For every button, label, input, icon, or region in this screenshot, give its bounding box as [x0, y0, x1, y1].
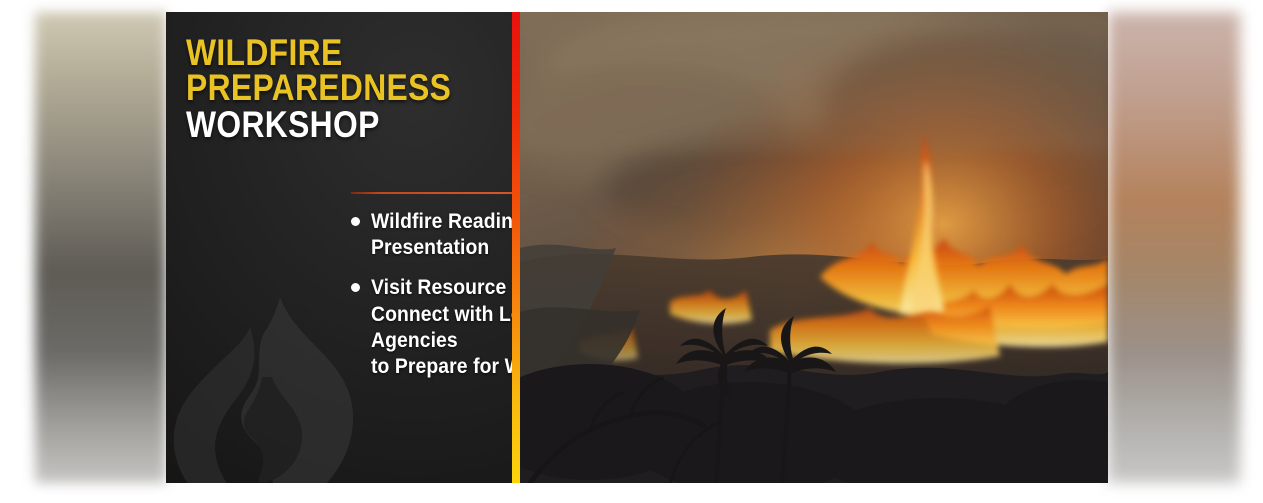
title-line-2: PREPAREDNESS — [186, 71, 466, 106]
title-line-1: WILDFIRE — [186, 36, 466, 71]
divider-rule — [351, 192, 512, 194]
gradient-divider-bar — [512, 12, 520, 483]
list-item-label: Visit Resource Tables and Connect with L… — [371, 274, 512, 379]
text-panel: WILDFIRE PREPAREDNESS WORKSHOP Wildfire … — [166, 12, 512, 483]
bullet-dot-icon — [351, 283, 360, 292]
title-block: WILDFIRE PREPAREDNESS WORKSHOP — [166, 12, 512, 142]
list-item: Wildfire Readiness Presentation — [351, 208, 512, 260]
slide-canvas: WILDFIRE PREPAREDNESS WORKSHOP Wildfire … — [0, 0, 1263, 503]
title-line-3: WORKSHOP — [186, 108, 466, 143]
wildfire-photo — [520, 12, 1108, 483]
page-title: WILDFIRE PREPAREDNESS WORKSHOP — [186, 36, 466, 142]
bullet-dot-icon — [351, 217, 360, 226]
blurred-backdrop-left — [35, 12, 166, 483]
blurred-backdrop-right — [1108, 12, 1240, 483]
bullet-list: Wildfire Readiness Presentation Visit Re… — [351, 208, 512, 393]
list-item-label: Wildfire Readiness Presentation — [371, 208, 512, 260]
list-item: Visit Resource Tables and Connect with L… — [351, 274, 512, 379]
